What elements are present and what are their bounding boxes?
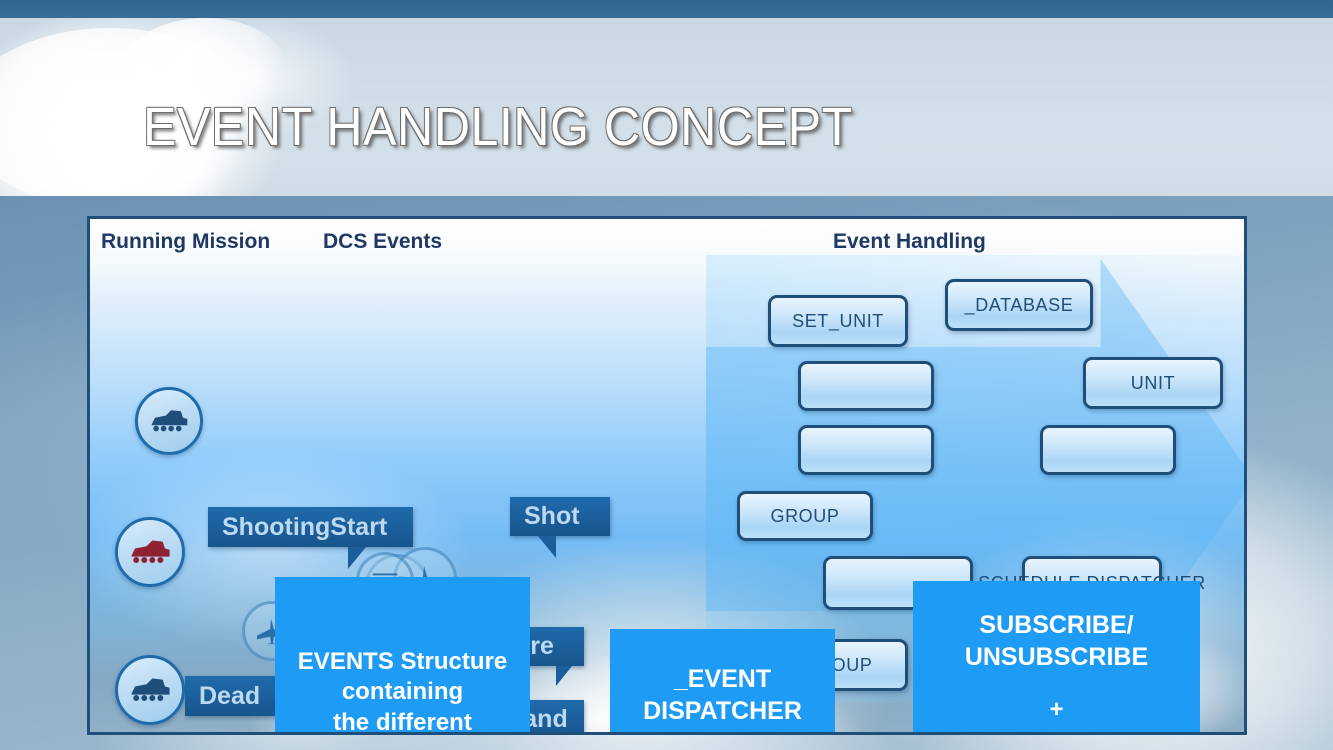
annotation-line: UNSUBSCRIBE (965, 641, 1148, 673)
column-header-event-handling: Event Handling (833, 230, 986, 254)
class-box-database[interactable]: _DATABASE (945, 279, 1093, 331)
event-label-text: ShootingStart (222, 513, 387, 542)
event-label-text: Dead (199, 682, 260, 711)
class-box-hidden-b[interactable] (1040, 425, 1176, 475)
annotation-line: SUBSCRIBE/ (979, 609, 1133, 641)
callout-tail (348, 547, 366, 569)
annotation-line: containing (342, 677, 463, 708)
annotation-line: the different (333, 708, 472, 735)
diagram-panel: Running Mission DCS Events Event Handlin… (87, 216, 1247, 735)
event-label-shot[interactable]: Shot (510, 497, 610, 536)
annotation-subscribe-methods: SUBSCRIBE/ UNSUBSCRIBE + EVENT HANDLING … (913, 581, 1200, 735)
unit-icon-armored-vehicle (135, 387, 203, 455)
annotation-line: EVENTS Structure (298, 647, 507, 678)
plus-sign: + (1049, 695, 1063, 726)
callout-tail (538, 536, 556, 558)
unit-icon-armored-vehicle-red (115, 517, 185, 587)
event-label-shootingstart[interactable]: ShootingStart (208, 507, 413, 547)
column-header-dcs-events: DCS Events (323, 230, 442, 254)
callout-tail (556, 666, 572, 686)
class-box-label: _DATABASE (965, 295, 1074, 316)
class-box-group-middle[interactable]: GROUP (737, 491, 873, 541)
class-box-hidden-a[interactable] (798, 425, 934, 475)
title-band: EVENT HANDLING CONCEPT (0, 18, 1333, 196)
slide-stage: EVENT HANDLING CONCEPT Running Mission D… (0, 0, 1333, 750)
slide-title: EVENT HANDLING CONCEPT (143, 96, 853, 158)
event-label-text: Shot (524, 502, 580, 531)
annotation-events-structure: EVENTS Structure containing the differen… (275, 577, 530, 735)
column-header-running-mission: Running Mission (101, 230, 270, 254)
class-box-set-unit[interactable]: SET_UNIT (768, 295, 908, 347)
class-box-label: UNIT (1131, 373, 1175, 394)
class-box-label: GROUP (770, 506, 839, 527)
annotation-event-dispatcher: _EVENT DISPATCHER OBJECT (610, 629, 835, 735)
class-box-label: SET_UNIT (792, 311, 884, 332)
annotation-line: OBJECT (672, 727, 773, 736)
top-accent-strip (0, 0, 1333, 18)
unit-icon-armored-vehicle (115, 655, 185, 725)
annotation-line: DISPATCHER (643, 695, 802, 727)
class-box-set-group[interactable] (798, 361, 934, 411)
class-box-unit[interactable]: UNIT (1083, 357, 1223, 409)
annotation-line: _EVENT (674, 663, 771, 695)
